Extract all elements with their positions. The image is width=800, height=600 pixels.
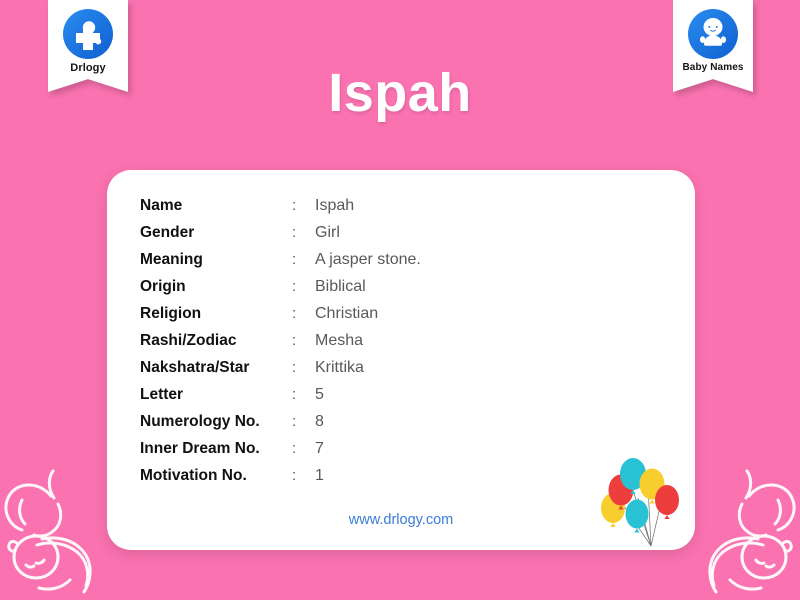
- poster-canvas: Drlogy Baby Names: [0, 0, 800, 600]
- table-row: Origin : Biblical: [140, 273, 421, 300]
- row-separator: :: [292, 354, 315, 381]
- mother-and-baby-icon: [0, 460, 106, 600]
- mother-and-baby-icon: [694, 460, 800, 600]
- row-value: Christian: [315, 300, 378, 327]
- row-label: Religion: [140, 300, 292, 327]
- row-value: Mesha: [315, 327, 363, 354]
- details-table: Name : Ispah Gender : Girl Meaning : A j…: [140, 192, 421, 489]
- row-label: Name: [140, 192, 292, 219]
- doctor-medical-cross-icon: [62, 8, 114, 60]
- table-row: Name : Ispah: [140, 192, 421, 219]
- row-separator: :: [292, 435, 315, 462]
- row-separator: :: [292, 462, 315, 489]
- row-label: Numerology No.: [140, 408, 292, 435]
- table-row: Letter : 5: [140, 381, 421, 408]
- table-row: Motivation No. : 1: [140, 462, 421, 489]
- row-value: Girl: [315, 219, 340, 246]
- table-row: Rashi/Zodiac : Mesha: [140, 327, 421, 354]
- row-value: 8: [315, 408, 324, 435]
- row-separator: :: [292, 219, 315, 246]
- table-row: Nakshatra/Star : Krittika: [140, 354, 421, 381]
- row-label: Nakshatra/Star: [140, 354, 292, 381]
- row-separator: :: [292, 192, 315, 219]
- table-row: Religion : Christian: [140, 300, 421, 327]
- row-value: Ispah: [315, 192, 354, 219]
- row-label: Meaning: [140, 246, 292, 273]
- row-value: 1: [315, 462, 324, 489]
- row-value: 5: [315, 381, 324, 408]
- row-value: Biblical: [315, 273, 366, 300]
- row-label: Inner Dream No.: [140, 435, 292, 462]
- row-separator: :: [292, 273, 315, 300]
- baby-icon: [687, 8, 739, 60]
- table-row: Inner Dream No. : 7: [140, 435, 421, 462]
- row-label: Motivation No.: [140, 462, 292, 489]
- row-label: Origin: [140, 273, 292, 300]
- table-row: Numerology No. : 8: [140, 408, 421, 435]
- row-label: Gender: [140, 219, 292, 246]
- row-label: Rashi/Zodiac: [140, 327, 292, 354]
- row-value: Krittika: [315, 354, 364, 381]
- row-value: 7: [315, 435, 324, 462]
- row-separator: :: [292, 246, 315, 273]
- row-separator: :: [292, 300, 315, 327]
- row-value: A jasper stone.: [315, 246, 421, 273]
- name-details-card: Name : Ispah Gender : Girl Meaning : A j…: [107, 170, 695, 550]
- row-separator: :: [292, 327, 315, 354]
- table-row: Gender : Girl: [140, 219, 421, 246]
- row-separator: :: [292, 408, 315, 435]
- table-row: Meaning : A jasper stone.: [140, 246, 421, 273]
- row-separator: :: [292, 381, 315, 408]
- page-title: Ispah: [0, 62, 800, 124]
- row-label: Letter: [140, 381, 292, 408]
- balloon-cluster-icon: [591, 446, 687, 550]
